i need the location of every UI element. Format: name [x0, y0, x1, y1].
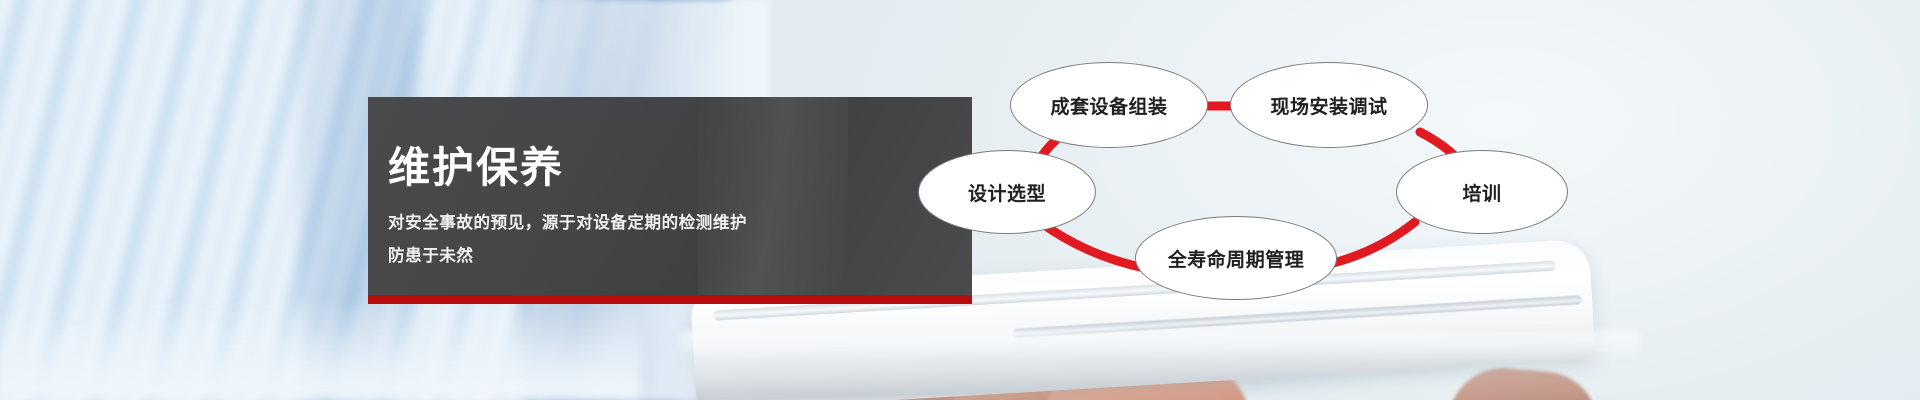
- diagram-node-lifecycle-label: 全寿命周期管理: [1168, 245, 1305, 272]
- hand-blur-fade: [680, 332, 1640, 360]
- diagram-node-design-label: 设计选型: [968, 179, 1046, 206]
- diagram-node-assembly[interactable]: 成套设备组装: [1010, 62, 1208, 148]
- diagram-node-training-label: 培训: [1462, 179, 1501, 206]
- diagram-node-install[interactable]: 现场安装调试: [1230, 62, 1428, 148]
- panel-description-line-2: 防患于未然: [388, 240, 747, 273]
- service-banner: 维护保养 对安全事故的预见，源于对设备定期的检测维护 防患于未然 设计选型 成套…: [0, 0, 1920, 400]
- process-diagram: 设计选型 成套设备组装 现场安装调试 培训 全寿命周期管理: [880, 40, 1640, 310]
- diagram-node-design[interactable]: 设计选型: [918, 150, 1096, 234]
- background-shirt-bottom-fade: [0, 300, 640, 400]
- diagram-node-lifecycle[interactable]: 全寿命周期管理: [1135, 216, 1337, 300]
- diagram-node-assembly-label: 成套设备组装: [1050, 92, 1167, 119]
- panel-description: 对安全事故的预见，源于对设备定期的检测维护 防患于未然: [388, 207, 747, 273]
- diagram-node-training[interactable]: 培训: [1396, 150, 1568, 234]
- page-title: 维护保养: [388, 145, 564, 191]
- panel-description-line-1: 对安全事故的预见，源于对设备定期的检测维护: [388, 207, 747, 240]
- diagram-node-install-label: 现场安装调试: [1270, 92, 1387, 119]
